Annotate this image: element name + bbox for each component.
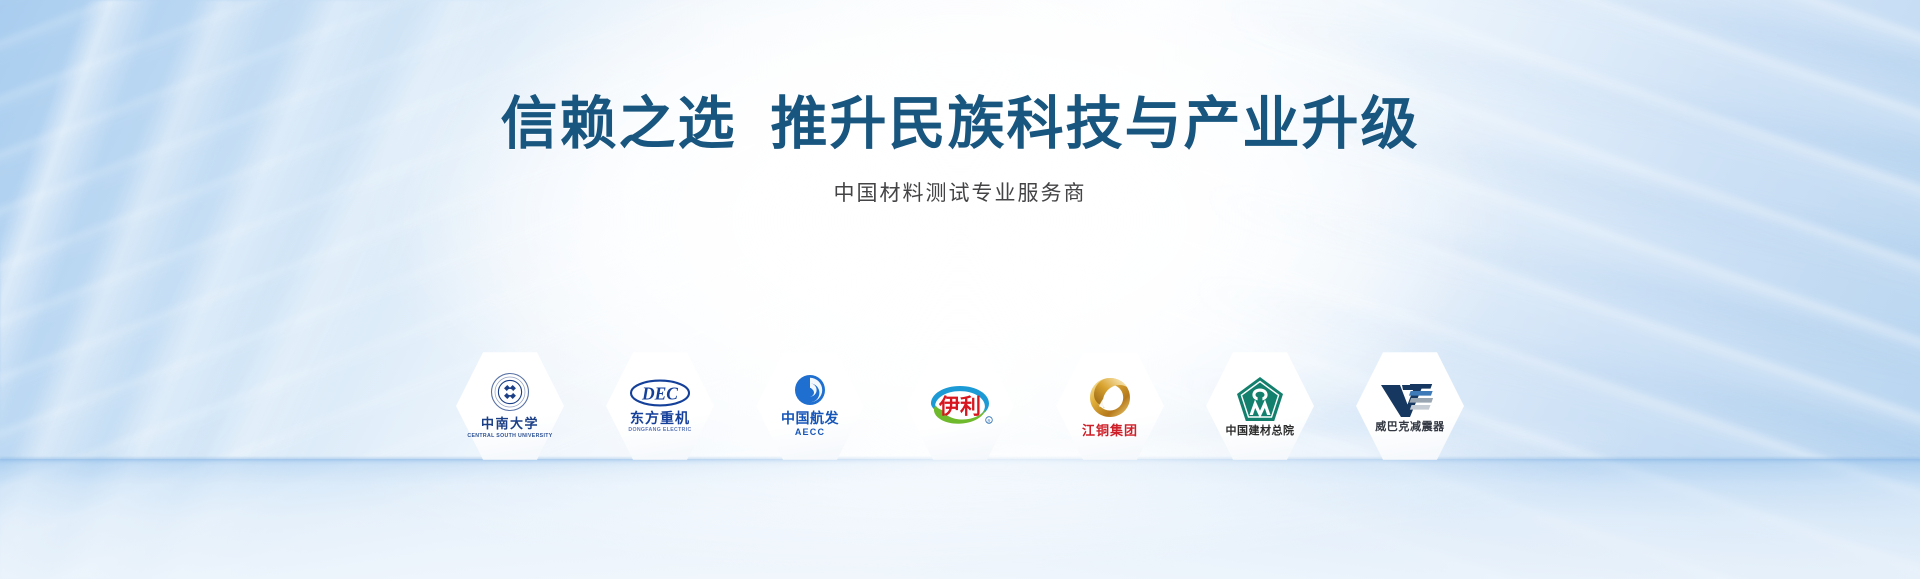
partner-label: 中国建材总院 xyxy=(1226,426,1295,438)
partner-logo-row: 中南大学 CENTRAL SOUTH UNIVERSITY DEC 东方重机 D… xyxy=(456,350,1464,462)
headline-block: 信赖之选推升民族科技与产业升级 中国材料测试专业服务商 xyxy=(0,96,1920,204)
right-soft-ribbons xyxy=(797,0,1920,579)
partner-sublabel: DONGFANG ELECTRIC xyxy=(628,428,691,434)
page-subtitle: 中国材料测试专业服务商 xyxy=(0,183,1920,204)
left-light-streaks-secondary xyxy=(0,0,1235,579)
partner-label: 东方重机 xyxy=(630,411,690,426)
page-title: 信赖之选推升民族科技与产业升级 xyxy=(0,96,1920,153)
partner-sublabel: CENTRAL SOUTH UNIVERSITY xyxy=(467,434,552,440)
partner-sublabel: AECC xyxy=(795,428,825,438)
partner-label: 中南大学 xyxy=(481,417,539,431)
headline-part-1: 信赖之选 xyxy=(501,92,737,156)
svg-text:DEC: DEC xyxy=(641,383,678,403)
cbma-pentagon-icon xyxy=(1235,375,1285,423)
partner-label: 中国航发 xyxy=(781,411,839,426)
left-light-streaks xyxy=(0,0,1920,579)
jcc-mobius-icon xyxy=(1085,375,1135,421)
hero-banner: 信赖之选推升民族科技与产业升级 中国材料测试专业服务商 中南大学 CENTRAL… xyxy=(0,0,1920,579)
partner-label: 威巴克减震器 xyxy=(1375,422,1445,434)
svg-text:R: R xyxy=(987,418,990,423)
dec-oval-icon: DEC xyxy=(629,378,691,408)
partner-hex-jiangxi-copper[interactable]: 江铜集团 xyxy=(1056,350,1164,462)
csu-emblem-icon xyxy=(488,372,532,414)
partner-hex-yili[interactable]: 伊利 R xyxy=(906,350,1014,462)
yili-swoosh-icon: 伊利 R xyxy=(923,380,997,430)
partner-hex-dongfang-electric[interactable]: DEC 东方重机 DONGFANG ELECTRIC xyxy=(606,350,714,462)
partner-hex-cbma[interactable]: 中国建材总院 xyxy=(1206,350,1314,462)
partner-hex-central-south-university[interactable]: 中南大学 CENTRAL SOUTH UNIVERSITY xyxy=(456,350,564,462)
vbk-v-icon xyxy=(1379,379,1441,419)
partner-hex-aecc[interactable]: 中国航发 AECC xyxy=(756,350,864,462)
partner-hex-vibracoustic[interactable]: 威巴克减震器 xyxy=(1356,350,1464,462)
aecc-swirl-icon xyxy=(792,374,828,408)
reflective-floor xyxy=(0,459,1920,579)
right-light-ribbons xyxy=(496,0,1920,579)
partner-label: 江铜集团 xyxy=(1082,424,1138,438)
svg-text:伊利: 伊利 xyxy=(938,394,981,418)
headline-part-2: 推升民族科技与产业升级 xyxy=(771,92,1420,156)
